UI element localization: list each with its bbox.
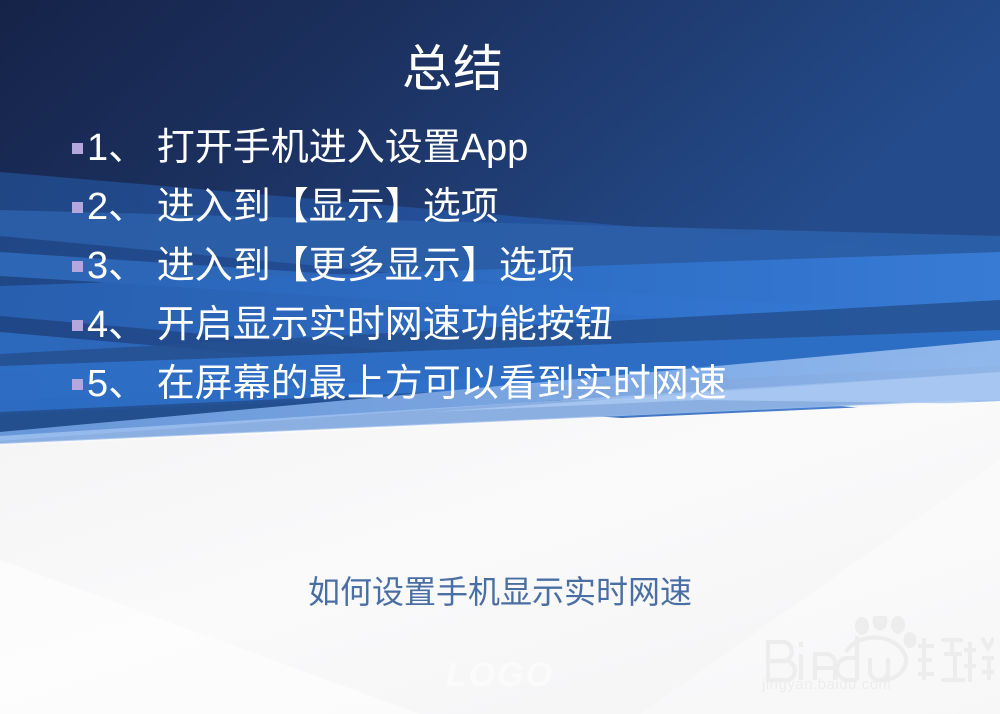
watermark-url: jingyan.baidu.com <box>762 676 992 694</box>
list-item[interactable]: 2、 进入到【显示】选项 <box>72 177 972 236</box>
list-item-label: 3、 进入到【更多显示】选项 <box>87 243 575 289</box>
bullet-list: 1、 打开手机进入设置App 2、 进入到【显示】选项 3、 进入到【更多显示】… <box>72 118 972 413</box>
paw-print-icon <box>855 616 917 648</box>
list-item[interactable]: 4、 开启显示实时网速功能按钮 <box>72 295 972 354</box>
square-bullet-icon <box>72 202 83 213</box>
square-bullet-icon <box>72 379 83 390</box>
list-item[interactable]: 3、 进入到【更多显示】选项 <box>72 236 972 295</box>
list-item-label: 1、 打开手机进入设置App <box>87 125 528 171</box>
slide-title: 总结 <box>0 40 906 98</box>
slide-subtitle: 如何设置手机显示实时网速 <box>0 572 1000 612</box>
square-bullet-icon <box>72 261 83 272</box>
square-bullet-icon <box>72 143 83 154</box>
list-item-label: 2、 进入到【显示】选项 <box>87 184 499 230</box>
list-item-label: 4、 开启显示实时网速功能按钮 <box>87 302 613 348</box>
square-bullet-icon <box>72 320 83 331</box>
list-item[interactable]: 1、 打开手机进入设置App <box>72 118 972 177</box>
list-item[interactable]: 5、 在屏幕的最上方可以看到实时网速 <box>72 354 972 413</box>
list-item-label: 5、 在屏幕的最上方可以看到实时网速 <box>87 361 727 407</box>
presentation-slide: 总结 1、 打开手机进入设置App 2、 进入到【显示】选项 3、 进入到【更多… <box>0 0 1000 714</box>
